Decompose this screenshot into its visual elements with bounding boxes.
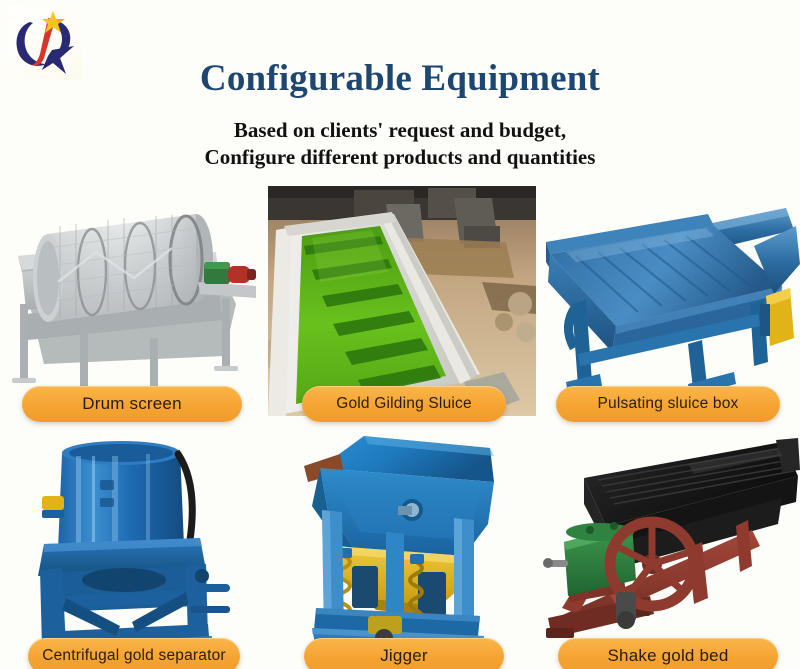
- label-drum-screen[interactable]: Drum screen: [22, 386, 242, 422]
- page-header: Configurable Equipment Based on clients'…: [0, 0, 800, 186]
- product-card-pulsating-sluice-box[interactable]: Pulsating sluice box: [538, 186, 800, 416]
- subtitle-line-1: Based on clients' request and budget,: [205, 117, 596, 144]
- page-subtitle: Based on clients' request and budget, Co…: [205, 117, 596, 171]
- page-title: Configurable Equipment: [200, 57, 600, 100]
- centrifugal-gold-separator-image: [0, 420, 266, 669]
- product-card-shake-gold-bed[interactable]: Shake gold bed: [538, 420, 800, 669]
- shake-gold-bed-image: [538, 420, 800, 669]
- separator-bowl: [58, 441, 184, 550]
- product-grid: Drum screen: [0, 186, 800, 669]
- label-gold-gilding-sluice[interactable]: Gold Gilding Sluice: [302, 386, 506, 422]
- product-card-gold-gilding-sluice[interactable]: Gold Gilding Sluice: [268, 186, 536, 416]
- separator-accent: [42, 496, 64, 510]
- drum-screen-image: [0, 186, 266, 416]
- label-jigger[interactable]: Jigger: [304, 638, 504, 669]
- pulsating-sluice-box-image: [538, 186, 800, 416]
- subtitle-line-2: Configure different products and quantit…: [205, 144, 596, 171]
- product-card-drum-screen[interactable]: Drum screen: [0, 186, 266, 416]
- product-card-jigger[interactable]: Jigger: [268, 420, 536, 669]
- label-shake-gold-bed[interactable]: Shake gold bed: [558, 638, 778, 669]
- label-centrifugal-gold-separator[interactable]: Centrifugal gold separator: [28, 638, 240, 669]
- jigger-image: [268, 420, 536, 669]
- gold-gilding-sluice-image: [268, 186, 536, 416]
- product-card-centrifugal-gold-separator[interactable]: Centrifugal gold separator: [0, 420, 266, 669]
- label-pulsating-sluice-box[interactable]: Pulsating sluice box: [556, 386, 780, 422]
